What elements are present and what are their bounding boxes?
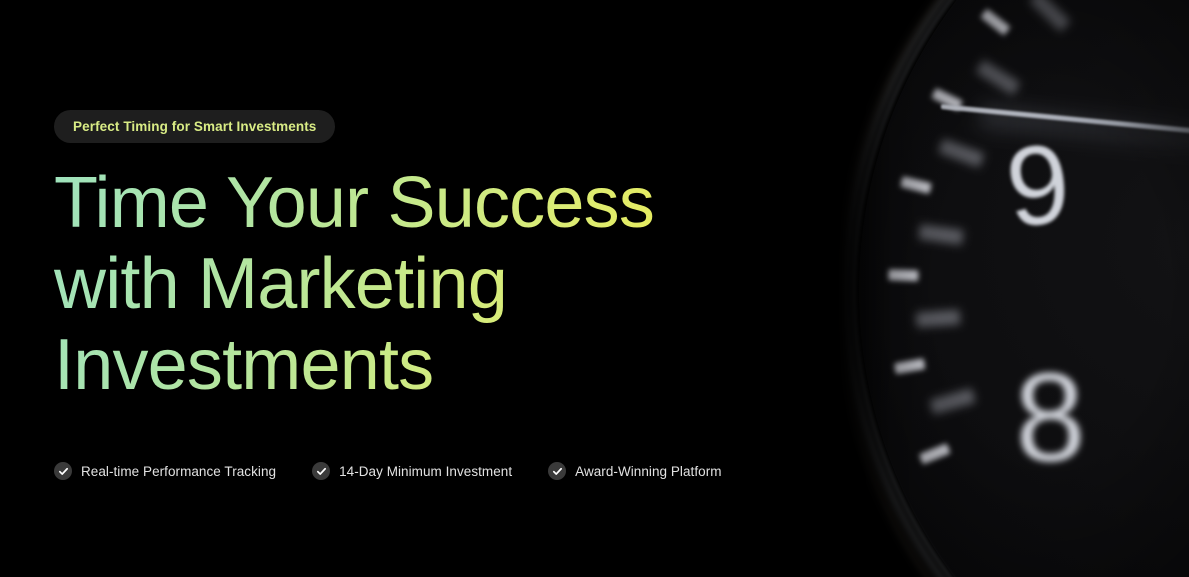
eyebrow-badge: Perfect Timing for Smart Investments (54, 110, 335, 143)
blurred-clock-photo: 9 8 (829, 0, 1189, 577)
feature-list: Real-time Performance Tracking 14-Day Mi… (54, 462, 722, 480)
feature-label: Award-Winning Platform (575, 464, 721, 479)
photo-left-fade (829, 0, 1189, 577)
hero-content: Perfect Timing for Smart Investments Tim… (54, 0, 814, 577)
hero-section: 9 8 Perfect Timing for Smart Investments… (0, 0, 1189, 577)
feature-item-realtime-tracking: Real-time Performance Tracking (54, 462, 276, 480)
feature-label: Real-time Performance Tracking (81, 464, 276, 479)
check-circle-icon (548, 462, 566, 480)
page-title: Time Your Success with Marketing Investm… (54, 163, 754, 406)
eyebrow-badge-label: Perfect Timing for Smart Investments (73, 119, 316, 134)
feature-label: 14-Day Minimum Investment (339, 464, 512, 479)
check-circle-icon (54, 462, 72, 480)
feature-item-minimum-investment: 14-Day Minimum Investment (312, 462, 512, 480)
check-circle-icon (312, 462, 330, 480)
feature-item-award-winning: Award-Winning Platform (548, 462, 721, 480)
